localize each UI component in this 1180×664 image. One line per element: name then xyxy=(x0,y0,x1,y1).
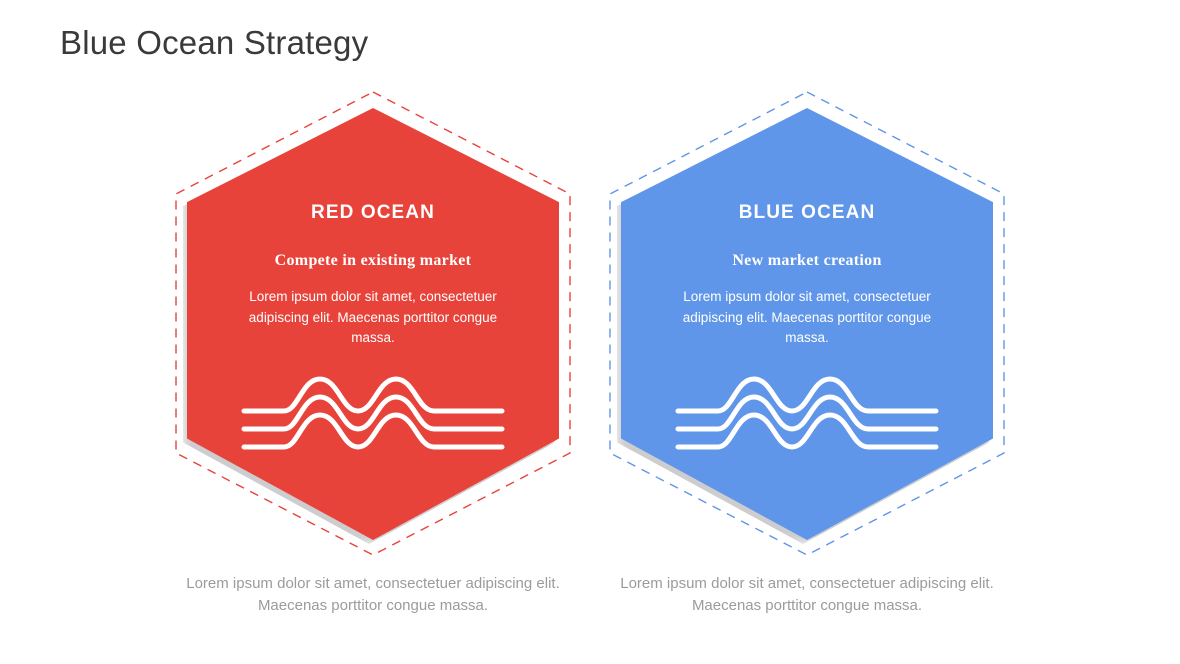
red-ocean-body-text: Lorem ipsum dolor sit amet, consectetuer… xyxy=(238,287,508,349)
red-ocean-column[interactable]: RED OCEAN Compete in existing market Lor… xyxy=(154,88,592,648)
blue-ocean-subheading: New market creation xyxy=(732,252,881,270)
page-title: Blue Ocean Strategy xyxy=(60,24,368,62)
red-ocean-heading: RED OCEAN xyxy=(311,202,435,224)
red-ocean-subheading: Compete in existing market xyxy=(275,252,472,270)
blue-hexagon-stack: BLUE OCEAN New market creation Lorem ips… xyxy=(588,88,1026,563)
ocean-waves-icon xyxy=(240,375,506,461)
blue-ocean-body-text: Lorem ipsum dolor sit amet, consectetuer… xyxy=(672,287,942,349)
red-ocean-caption: Lorem ipsum dolor sit amet, consectetuer… xyxy=(154,573,592,617)
red-hexagon-stack: RED OCEAN Compete in existing market Lor… xyxy=(154,88,592,563)
blue-ocean-column[interactable]: BLUE OCEAN New market creation Lorem ips… xyxy=(588,88,1026,648)
blue-ocean-heading: BLUE OCEAN xyxy=(739,202,876,224)
ocean-waves-icon xyxy=(674,375,940,461)
blue-ocean-caption: Lorem ipsum dolor sit amet, consectetuer… xyxy=(588,573,1026,617)
